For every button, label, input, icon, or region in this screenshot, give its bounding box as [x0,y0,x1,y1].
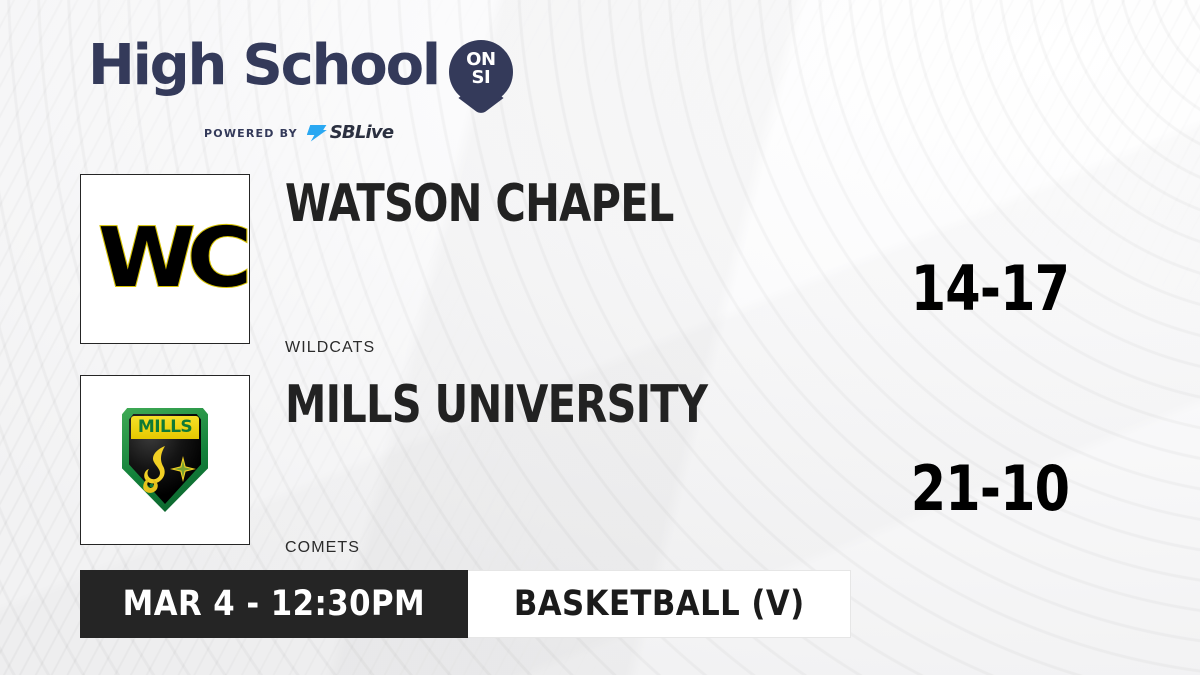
game-datetime-label: MAR 4 - 12:30PM [123,587,425,622]
on-si-pin-icon: ON SI [449,40,513,118]
brand-primary-row: High School ON SI [88,38,508,118]
home-team-mascot: COMETS [285,540,360,556]
powered-by-label: POWERED BY [204,127,298,140]
home-team-logo-box: MILLS [80,375,250,545]
comet-icon [139,444,173,496]
matchup-graphic: High School ON SI POWERED BY SBLive WC [0,0,1200,675]
away-team-logo-box: WC [80,174,250,344]
game-datetime-cell: MAR 4 - 12:30PM [80,570,468,638]
shield-banner-label: MILLS [138,419,192,436]
wc-monogram-logo: WC [98,218,243,300]
away-team-record: 14-17 [908,258,1072,320]
sblive-logo: SBLive [307,124,393,142]
shield-banner: MILLS [131,416,199,439]
pin-label-line1: ON [449,51,513,69]
brand-wordmark: High School [88,38,439,94]
sblive-wordmark: SBLive [330,124,393,142]
away-team-name: WATSON CHAPEL [285,178,674,230]
powered-by-row: POWERED BY SBLive [88,124,508,142]
sblive-bolt-icon [307,125,327,142]
mills-shield-logo: MILLS [122,408,208,512]
game-sport-label: BASKETBALL (V) [514,587,805,622]
game-info-bar: MAR 4 - 12:30PM BASKETBALL (V) [80,570,851,638]
brand-lockup: High School ON SI POWERED BY SBLive [88,38,508,142]
pin-label: ON SI [449,51,513,86]
game-sport-cell: BASKETBALL (V) [468,570,852,638]
home-team-name: MILLS UNIVERSITY [285,379,707,431]
four-point-star-icon [170,456,196,482]
home-team-record: 21-10 [908,458,1072,520]
pin-label-line2: SI [449,69,513,87]
away-team-mascot: WILDCATS [285,340,375,356]
